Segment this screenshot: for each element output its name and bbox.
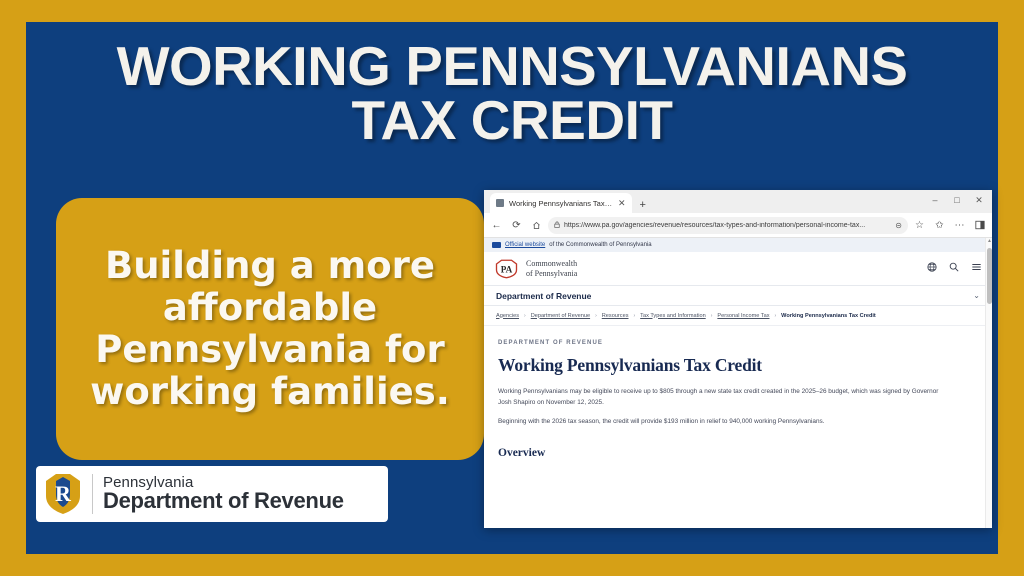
breadcrumb-separator: › xyxy=(775,313,777,319)
maximize-icon[interactable]: □ xyxy=(946,191,968,209)
breadcrumb-separator: › xyxy=(634,313,636,319)
breadcrumb-separator: › xyxy=(711,313,713,319)
chevron-down-icon[interactable]: ⌄ xyxy=(973,291,980,300)
profile-icon[interactable] xyxy=(971,217,988,234)
breadcrumb-item-tax-types-and-information[interactable]: Tax Types and Information xyxy=(640,313,706,319)
home-icon[interactable] xyxy=(528,217,545,234)
scrollbar-thumb[interactable] xyxy=(987,248,992,304)
breadcrumb-item-current: Working Pennsylvanians Tax Credit xyxy=(781,313,876,319)
breadcrumb: Agencies › Department of Revenue › Resou… xyxy=(484,306,992,326)
headline-line-2: TAX CREDIT xyxy=(26,94,998,148)
breadcrumb-item-personal-income-tax[interactable]: Personal Income Tax xyxy=(717,313,769,319)
browser-window: Working Pennsylvanians Tax Cred ✕ + – □ … xyxy=(484,190,992,528)
gov-notice-banner: Official website of the Commonwealth of … xyxy=(484,238,992,252)
address-bar-actions: ⊝ xyxy=(895,221,902,230)
address-bar[interactable]: https://www.pa.gov/agencies/revenue/reso… xyxy=(548,217,908,234)
keystone-icon: R xyxy=(36,466,90,522)
breadcrumb-separator: › xyxy=(595,313,597,319)
department-name: Department of Revenue xyxy=(496,291,591,301)
pa-keystone-icon: PA xyxy=(494,259,519,279)
svg-text:PA: PA xyxy=(501,264,513,274)
close-icon[interactable]: ✕ xyxy=(618,199,626,208)
minimize-icon[interactable]: – xyxy=(924,191,946,209)
scroll-up-arrow-icon[interactable]: ▲ xyxy=(986,238,992,244)
site-brand[interactable]: PA Commonwealth of Pennsylvania xyxy=(494,259,577,279)
collections-icon[interactable]: ✩ xyxy=(931,217,948,234)
breadcrumb-item-resources[interactable]: Resources xyxy=(602,313,629,319)
breadcrumb-separator: › xyxy=(524,313,526,319)
window-controls: – □ ✕ xyxy=(924,191,990,209)
back-icon[interactable]: ← xyxy=(488,217,505,234)
page-content: DEPARTMENT OF REVENUE Working Pennsylvan… xyxy=(484,326,992,459)
official-website-link[interactable]: Official website xyxy=(505,242,545,248)
vertical-scrollbar[interactable]: ▲ xyxy=(985,238,992,528)
headline-line-1: WORKING PENNSYLVANIANS xyxy=(16,40,1007,94)
reader-mode-icon[interactable]: ⊝ xyxy=(895,221,902,230)
favicon-icon xyxy=(496,199,504,207)
browser-toolbar: ← ⟳ https://www.pa.gov/agencies/revenue/… xyxy=(484,213,992,238)
browser-tab-strip: Working Pennsylvanians Tax Cred ✕ + – □ … xyxy=(484,190,992,213)
lock-icon xyxy=(554,221,560,230)
plus-icon[interactable]: + xyxy=(640,200,646,213)
logo-line-department: Department of Revenue xyxy=(103,490,344,513)
content-section-heading: Overview xyxy=(498,447,978,459)
hamburger-menu-icon[interactable] xyxy=(971,262,982,275)
dept-of-revenue-logo: R Pennsylvania Department of Revenue xyxy=(36,466,388,522)
search-icon[interactable] xyxy=(949,262,959,275)
refresh-icon[interactable]: ⟳ xyxy=(508,217,525,234)
browser-tab[interactable]: Working Pennsylvanians Tax Cred ✕ xyxy=(490,193,632,213)
brand-line-2: of Pennsylvania xyxy=(526,269,577,279)
department-nav-bar[interactable]: Department of Revenue ⌄ xyxy=(484,285,992,306)
address-bar-url: https://www.pa.gov/agencies/revenue/reso… xyxy=(564,222,891,229)
callout-text: Building a more affordable Pennsylvania … xyxy=(72,245,468,414)
content-eyebrow: DEPARTMENT OF REVENUE xyxy=(498,340,978,346)
more-options-icon[interactable]: ⋯ xyxy=(951,217,968,234)
breadcrumb-item-agencies[interactable]: Agencies xyxy=(496,313,519,319)
breadcrumb-item-department-of-revenue[interactable]: Department of Revenue xyxy=(531,313,590,319)
content-paragraph-2: Beginning with the 2026 tax season, the … xyxy=(498,417,950,428)
content-title: Working Pennsylvanians Tax Credit xyxy=(498,355,978,376)
gov-banner-text: of the Commonwealth of Pennsylvania xyxy=(549,242,651,248)
logo-wordmark: Pennsylvania Department of Revenue xyxy=(103,475,344,513)
site-brand-wordmark: Commonwealth of Pennsylvania xyxy=(526,259,577,279)
site-header-actions xyxy=(927,262,982,275)
brand-line-1: Commonwealth xyxy=(526,259,577,269)
favorite-icon[interactable]: ☆ xyxy=(911,217,928,234)
page-title: WORKING PENNSYLVANIANS TAX CREDIT xyxy=(26,40,998,148)
callout-box: Building a more affordable Pennsylvania … xyxy=(56,198,484,460)
svg-text:R: R xyxy=(55,481,72,506)
poster-panel: WORKING PENNSYLVANIANS TAX CREDIT Buildi… xyxy=(26,22,998,554)
site-header: PA Commonwealth of Pennsylvania xyxy=(484,252,992,285)
logo-divider xyxy=(92,474,93,514)
flag-icon xyxy=(492,242,501,248)
content-paragraph-1: Working Pennsylvanians may be eligible t… xyxy=(498,387,950,408)
browser-tab-title: Working Pennsylvanians Tax Cred xyxy=(509,199,613,208)
close-window-icon[interactable]: ✕ xyxy=(968,191,990,209)
globe-icon[interactable] xyxy=(927,262,937,275)
